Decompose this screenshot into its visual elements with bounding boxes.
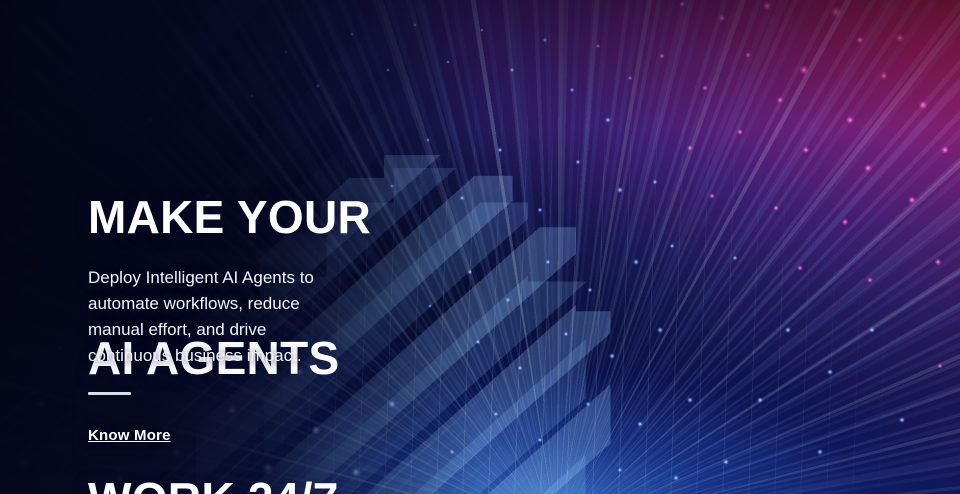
banner-description: Deploy Intelligent AI Agents to automate… [88, 265, 418, 369]
headline-line-3: WORK 24/7 [88, 476, 371, 494]
body-line-1: Deploy Intelligent AI Agents to [88, 265, 418, 291]
hero-banner: MAKE YOUR AI AGENTS WORK 24/7 Deploy Int… [0, 0, 960, 494]
banner-content: MAKE YOUR AI AGENTS WORK 24/7 Deploy Int… [0, 0, 960, 494]
body-line-4: continuous business impact. [88, 343, 418, 369]
body-line-3: manual effort, and drive [88, 317, 418, 343]
headline-line-1: MAKE YOUR [88, 194, 371, 241]
know-more-link[interactable]: Know More [88, 427, 171, 444]
body-line-2: automate workflows, reduce [88, 291, 418, 317]
cta-divider-rule [88, 392, 131, 395]
cta-group: Know More [88, 392, 171, 445]
